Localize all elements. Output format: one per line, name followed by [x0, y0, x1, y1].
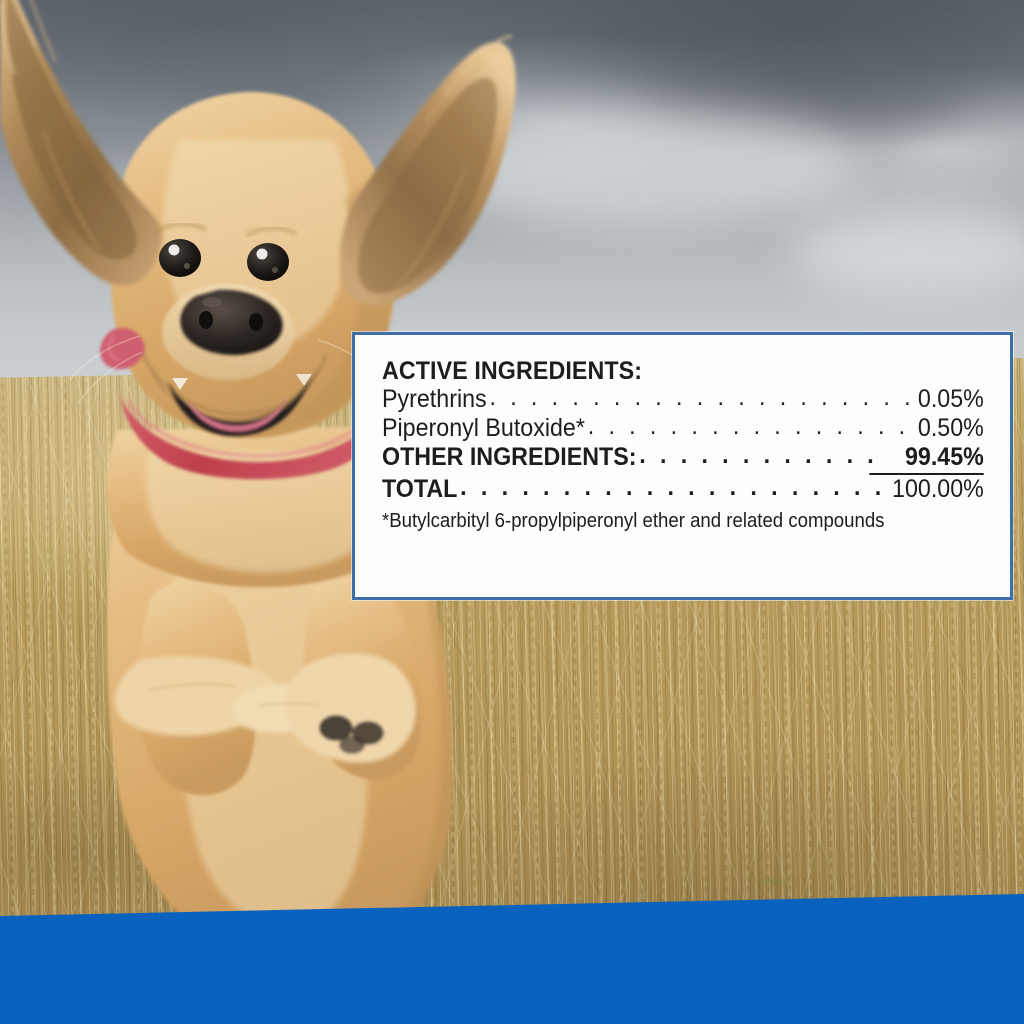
ingredient-name: Piperonyl Butoxide*: [382, 414, 585, 443]
ingredient-row-piperonyl-butoxide: Piperonyl Butoxide* . . . . . . . . . . …: [382, 414, 984, 443]
product-image-canvas: ACTIVE INGREDIENTS: Pyrethrins . . . . .…: [0, 0, 1024, 1024]
leader-dots: . . . . . . . . . . . . . . . . . . . . …: [460, 473, 887, 502]
ingredient-name: Pyrethrins: [382, 385, 487, 414]
active-ingredients-heading: ACTIVE INGREDIENTS:: [382, 357, 984, 385]
ingredient-value: 100.00%: [892, 475, 984, 504]
active-ingredients-panel: ACTIVE INGREDIENTS: Pyrethrins . . . . .…: [352, 332, 1013, 600]
dog-ear-left: [0, 0, 162, 285]
ingredient-row-total: TOTAL . . . . . . . . . . . . . . . . . …: [382, 475, 984, 504]
ingredient-value: 0.05%: [918, 385, 984, 414]
ingredient-footnote: *Butylcarbityl 6-propylpiperonyl ether a…: [382, 510, 984, 533]
leader-dots: . . . . . . . . . . . . . . . . . . . . …: [489, 383, 913, 412]
ingredient-name: OTHER INGREDIENTS:: [382, 443, 636, 472]
ingredient-row-other-ingredients: OTHER INGREDIENTS: . . . . . . . . . . .…: [382, 443, 984, 472]
bottom-blue-band: [0, 894, 1024, 1024]
ingredient-value: 0.50%: [918, 414, 984, 443]
leader-dots: . . . . . . . . . . . . . . . .: [588, 412, 914, 441]
leader-dots: . . . . . . . . . . . .: [639, 441, 900, 470]
ingredient-value: 99.45%: [905, 443, 984, 472]
ingredient-name: TOTAL: [382, 475, 457, 504]
ingredient-row-pyrethrins: Pyrethrins . . . . . . . . . . . . . . .…: [382, 385, 984, 414]
